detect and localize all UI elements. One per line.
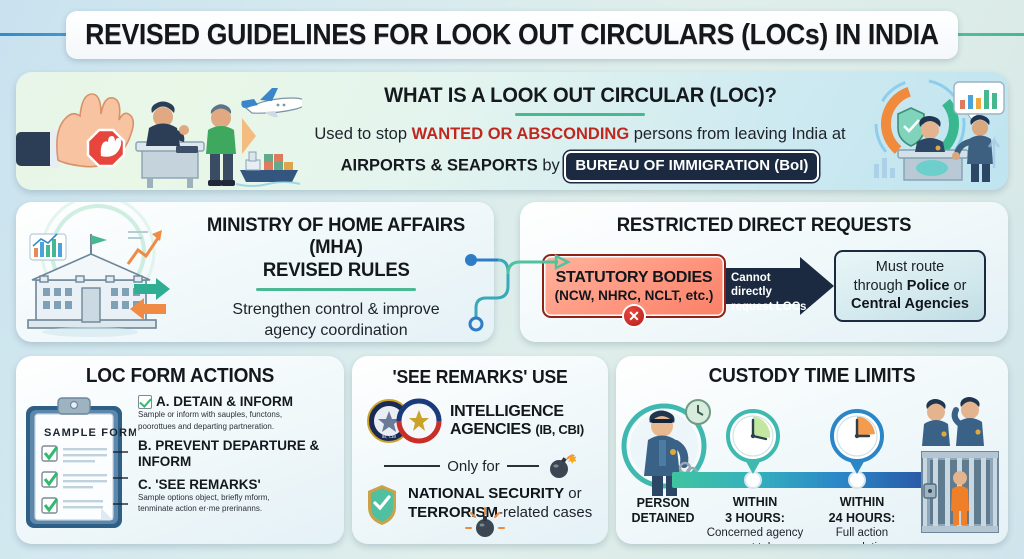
form-action-item-c: C. 'SEE REMARKS' Sample options object, … bbox=[138, 477, 336, 515]
remarks-body-suffix: -related cases bbox=[498, 504, 592, 521]
banner-left-illustration bbox=[16, 72, 302, 190]
mha-underline bbox=[256, 288, 416, 291]
intelligence-agencies-row: IB, CBI INTELLIGENCE AGENCIES (IB, CBI) bbox=[352, 398, 608, 444]
bomb-icon-bottom bbox=[464, 506, 506, 540]
banner-line1-prefix: Used to stop bbox=[314, 125, 411, 143]
mha-title-line1: MINISTRY OF HOME AFFAIRS (MHA) bbox=[199, 214, 473, 259]
mha-title-line2: REVISED RULES bbox=[263, 259, 410, 281]
page-title-bar: REVISED GUIDELINES FOR LOOK OUT CIRCULAR… bbox=[66, 11, 958, 59]
divider-right bbox=[507, 465, 539, 467]
route-line2-bold: Police bbox=[907, 278, 950, 294]
clock-3-hours-icon bbox=[724, 408, 782, 474]
divider-left bbox=[384, 465, 440, 467]
page-title: REVISED GUIDELINES FOR LOOK OUT CIRCULAR… bbox=[85, 19, 939, 52]
banner-line-2: AIRPORTS & SEAPORTS by BUREAU OF IMMIGRA… bbox=[341, 151, 820, 182]
milestone-3h-body-line1: Concerned agency bbox=[702, 526, 808, 541]
agency-line2: AGENCIES bbox=[450, 421, 531, 438]
remarks-card-title: 'SEE REMARKS' USE bbox=[358, 366, 601, 388]
milestone-3h-heading-line1: WITHIN bbox=[702, 494, 808, 510]
form-action-item-b: B. PREVENT DEPARTURE & INFORM bbox=[138, 438, 336, 470]
shield-check-icon bbox=[362, 482, 402, 526]
banner-text-block: WHAT IS A LOOK OUT CIRCULAR (LOC)? Used … bbox=[302, 72, 858, 190]
clock-24-hours-icon bbox=[828, 408, 886, 474]
checkbox-checked-icon bbox=[138, 395, 152, 409]
remarks-body-line1: NATIONAL SECURITY or bbox=[408, 485, 592, 504]
milestone-24h-body-line1: Full action bbox=[812, 526, 912, 541]
form-action-c-heading: C. 'SEE REMARKS' bbox=[138, 477, 336, 492]
person-detained-line2: DETAINED bbox=[620, 511, 706, 526]
milestone-24-hours-label: WITHIN 24 HOURS: Full action completion bbox=[812, 494, 912, 544]
timeline-bar bbox=[672, 472, 944, 488]
restricted-title: RESTRICTED DIRECT REQUESTS bbox=[532, 214, 996, 237]
restricted-direct-requests-card: RESTRICTED DIRECT REQUESTS STATUTORY BOD… bbox=[520, 202, 1008, 342]
banner-line2-mid: by bbox=[538, 157, 565, 175]
banner-line-1: Used to stop WANTED OR ABSCONDING person… bbox=[314, 123, 845, 147]
form-action-a-sub-line2: poorottues and departing partneration. bbox=[138, 422, 336, 432]
cannot-request-arrow: Cannot directly request LOCs bbox=[726, 257, 834, 315]
must-route-box: Must route through Police or Central Age… bbox=[834, 250, 986, 322]
route-line3-bold: Central Agencies bbox=[851, 296, 969, 312]
banner-line2-bold: AIRPORTS & SEAPORTS bbox=[341, 157, 538, 175]
loc-form-actions-card: LOC FORM ACTIONS SAMPLE FORM bbox=[16, 356, 344, 544]
agency-text: INTELLIGENCE AGENCIES (IB, CBI) bbox=[450, 403, 584, 439]
arrow-label: Cannot directly request LOCs bbox=[731, 271, 807, 314]
custody-card-title: CUSTODY TIME LIMITS bbox=[626, 365, 998, 388]
see-remarks-use-card: 'SEE REMARKS' USE IB, CBI INTELLIGENCE A… bbox=[352, 356, 608, 544]
arrow-label-line2: request LOCs bbox=[731, 300, 807, 314]
banner-line1-suffix: persons from leaving India at bbox=[629, 125, 845, 143]
svg-text:IB, CBI: IB, CBI bbox=[382, 434, 397, 439]
remarks-body-mid: or bbox=[564, 485, 582, 502]
mha-body-line1: Strengthen control & improve bbox=[232, 299, 439, 321]
form-action-b-heading: B. PREVENT DEPARTURE & INFORM bbox=[138, 438, 336, 470]
mha-to-restricted-connector bbox=[462, 252, 582, 342]
banner-line1-highlight: WANTED OR ABSCONDING bbox=[412, 125, 630, 143]
agency-line1: INTELLIGENCE bbox=[450, 403, 584, 421]
form-action-a-sub-line1: Sample or inform with sauples, functons, bbox=[138, 410, 336, 420]
mha-body-line2: agency coordination bbox=[264, 320, 407, 342]
jail-cell-illustration bbox=[914, 390, 1006, 535]
custody-timeline: PERSON DETAINED WITHIN 3 HOURS: Concerne… bbox=[616, 390, 1008, 535]
milestone-3h-body-line2: must take bbox=[702, 541, 808, 544]
form-action-a-heading: A. DETAIN & INFORM bbox=[156, 394, 293, 409]
form-action-a-heading-row: A. DETAIN & INFORM bbox=[138, 394, 336, 409]
route-line1: Must route bbox=[851, 258, 969, 277]
agency-line2-sm: (IB, CBI) bbox=[535, 422, 584, 437]
bomb-icon bbox=[546, 453, 576, 479]
mha-illustration bbox=[16, 202, 192, 342]
person-detained-line1: PERSON bbox=[620, 496, 706, 511]
route-line2-suffix: or bbox=[950, 278, 967, 294]
banner-underline bbox=[515, 113, 645, 116]
clipboard-label-text: SAMPLE FORM bbox=[44, 427, 136, 439]
person-detained-label: PERSON DETAINED bbox=[620, 496, 706, 526]
custody-time-limits-card: CUSTODY TIME LIMITS bbox=[616, 356, 1008, 544]
banner-heading: WHAT IS A LOOK OUT CIRCULAR (LOC)? bbox=[384, 84, 777, 108]
form-action-item-a: A. DETAIN & INFORM Sample or inform with… bbox=[138, 394, 336, 432]
national-security-bold: NATIONAL SECURITY bbox=[408, 485, 564, 502]
boi-chip: BUREAU OF IMMIGRATION (BoI) bbox=[564, 151, 819, 182]
form-actions-list: A. DETAIN & INFORM Sample or inform with… bbox=[136, 394, 344, 534]
milestone-3-hours-label: WITHIN 3 HOURS: Concerned agency must ta… bbox=[702, 494, 808, 544]
form-action-c-sub-line2: tenminate action er·me prerinanns. bbox=[138, 504, 336, 514]
mha-text-block: MINISTRY OF HOME AFFAIRS (MHA) REVISED R… bbox=[192, 202, 494, 342]
milestone-24h-heading-line2: 24 HOURS: bbox=[812, 510, 912, 526]
only-for-row: Only for bbox=[352, 453, 608, 479]
route-line3: Central Agencies bbox=[851, 295, 969, 314]
form-card-inner: SAMPLE FORM bbox=[16, 394, 344, 534]
form-action-c-sub-line1: Sample options object, briefly mform, bbox=[138, 493, 336, 503]
agency-emblems: IB, CBI bbox=[366, 398, 444, 444]
mha-revised-rules-card: MINISTRY OF HOME AFFAIRS (MHA) REVISED R… bbox=[16, 202, 494, 342]
prohibited-x-icon: ✕ bbox=[622, 304, 646, 328]
agency-line2-row: AGENCIES (IB, CBI) bbox=[450, 421, 584, 439]
arrow-label-line1: Cannot directly bbox=[731, 271, 807, 300]
only-for-label: Only for bbox=[447, 458, 500, 475]
form-card-title: LOC FORM ACTIONS bbox=[24, 365, 336, 388]
milestone-3h-heading-line2: 3 HOURS: bbox=[702, 510, 808, 526]
clipboard-illustration: SAMPLE FORM bbox=[16, 394, 136, 534]
restricted-flow: STATUTORY BODIES (NCW, NHRC, NCLT, etc.)… bbox=[520, 250, 1008, 322]
milestone-24h-body-line2: completion bbox=[812, 541, 912, 544]
route-line2: through Police or bbox=[851, 277, 969, 296]
milestone-24h-heading-line1: WITHIN bbox=[812, 494, 912, 510]
loc-definition-banner: WHAT IS A LOOK OUT CIRCULAR (LOC)? Used … bbox=[16, 72, 1008, 190]
route-line2-prefix: through bbox=[854, 278, 907, 294]
banner-right-illustration bbox=[858, 72, 1008, 190]
